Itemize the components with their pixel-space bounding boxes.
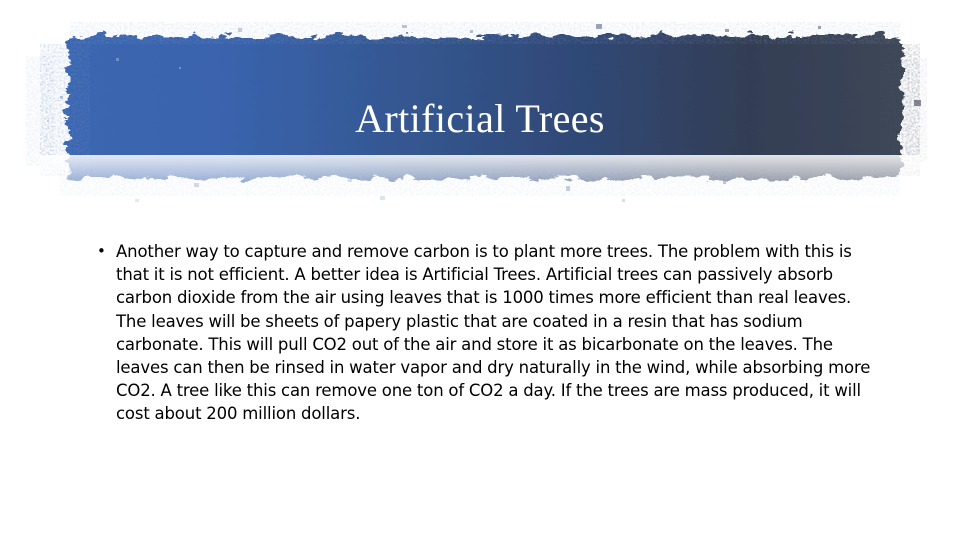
list-item-text: Another way to capture and remove carbon… — [116, 240, 878, 426]
title-banner: Artificial Trees — [0, 0, 960, 215]
body-content: • Another way to capture and remove carb… — [88, 240, 878, 426]
bullet-icon: • — [97, 240, 106, 263]
list-item: • Another way to capture and remove carb… — [88, 240, 878, 426]
page-title: Artificial Trees — [0, 94, 960, 144]
slide: Artificial Trees • Another way to captur… — [0, 0, 960, 540]
